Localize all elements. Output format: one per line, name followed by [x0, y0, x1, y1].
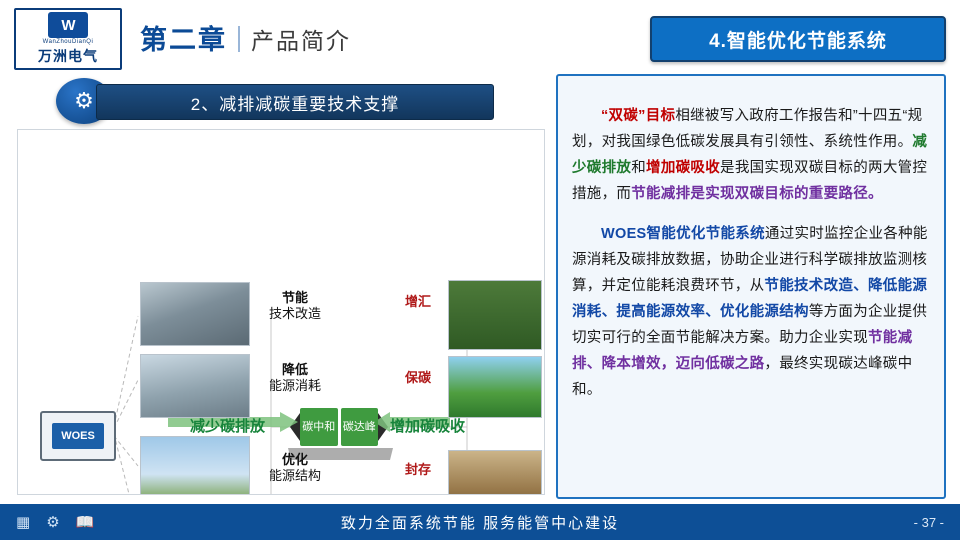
diagram-panel: 节能技术改造 降低能源消耗 优化能源结构 提高用能效率 增汇 保碳 封存 利用 … [17, 129, 545, 495]
right-item-2-label: 封存 [390, 462, 446, 478]
footer-bar: ▦ ⚙ 📖 致力全面系统节能 服务能管中心建设 - 37 - [0, 504, 960, 540]
text-span-6: 节能减排是实现双碳目标的重要路径。 [631, 186, 883, 202]
thumb-green-field [448, 356, 542, 418]
section-badge-label: 4.智能优化节能系统 [709, 26, 887, 53]
thumb-forest [448, 280, 542, 350]
section-title-bar: 2、减排减碳重要技术支撑 [96, 84, 494, 120]
text-span-0: “双碳”目标 [601, 108, 675, 124]
text-span-0: WOES智能优化节能系统 [601, 226, 765, 242]
chapter-divider [238, 26, 240, 52]
text-span-3: 和 [631, 160, 646, 176]
chapter-number: 第二章 [140, 18, 227, 57]
slide: W WanZhouDianQi 万洲电气 第二章 产品简介 4.智能优化节能系统… [0, 0, 960, 540]
logo-pinyin: WanZhouDianQi [43, 39, 94, 45]
right-arrow-label: 增加碳吸收 [390, 415, 465, 436]
woes-node: WOES [40, 411, 116, 461]
right-item-1-label: 保碳 [390, 370, 446, 386]
right-item-0-label: 增汇 [390, 294, 446, 310]
footer-slogan: 致力全面系统节能 服务能管中心建设 [0, 512, 960, 533]
chapter-subtitle: 产品简介 [251, 22, 351, 56]
description-panel: “双碳”目标相继被写入政府工作报告和”十四五“规划，对我国绿色低碳发展具有引领性… [556, 74, 946, 499]
section-badge: 4.智能优化节能系统 [650, 16, 946, 62]
thumb-cooling-tower [140, 354, 250, 418]
left-arrow-label: 减少碳排放 [190, 415, 265, 436]
woes-node-label: WOES [52, 423, 104, 449]
center-block-carbon-neutral: 碳中和 [300, 408, 338, 446]
text-span-4: 增加碳吸收 [646, 160, 720, 176]
page-number: - 37 - [914, 515, 944, 530]
paragraph-2: WOES智能优化节能系统通过实时监控企业各种能源消耗及碳排放数据，协助企业进行科… [572, 221, 930, 403]
logo-company-name: 万洲电气 [38, 46, 98, 66]
left-item-0-label: 节能技术改造 [256, 290, 334, 322]
chapter-heading: 第二章 产品简介 [140, 18, 351, 57]
left-item-1-label: 降低能源消耗 [256, 362, 334, 394]
left-item-2-label: 优化能源结构 [256, 452, 334, 484]
section-title-label: 2、减排减碳重要技术支撑 [191, 90, 399, 115]
company-logo: W WanZhouDianQi 万洲电气 [14, 8, 122, 70]
center-goal-blocks: 碳中和 碳达峰 [300, 408, 378, 446]
thumb-wind-solar [140, 436, 250, 495]
thumb-underground-storage [448, 450, 542, 495]
paragraph-1: “双碳”目标相继被写入政府工作报告和”十四五“规划，对我国绿色低碳发展具有引领性… [572, 103, 930, 207]
logo-emblem-icon: W [48, 12, 88, 38]
center-block-carbon-peak: 碳达峰 [341, 408, 379, 446]
thumb-pipes [140, 282, 250, 346]
logo-emblem-text: W [61, 17, 74, 34]
